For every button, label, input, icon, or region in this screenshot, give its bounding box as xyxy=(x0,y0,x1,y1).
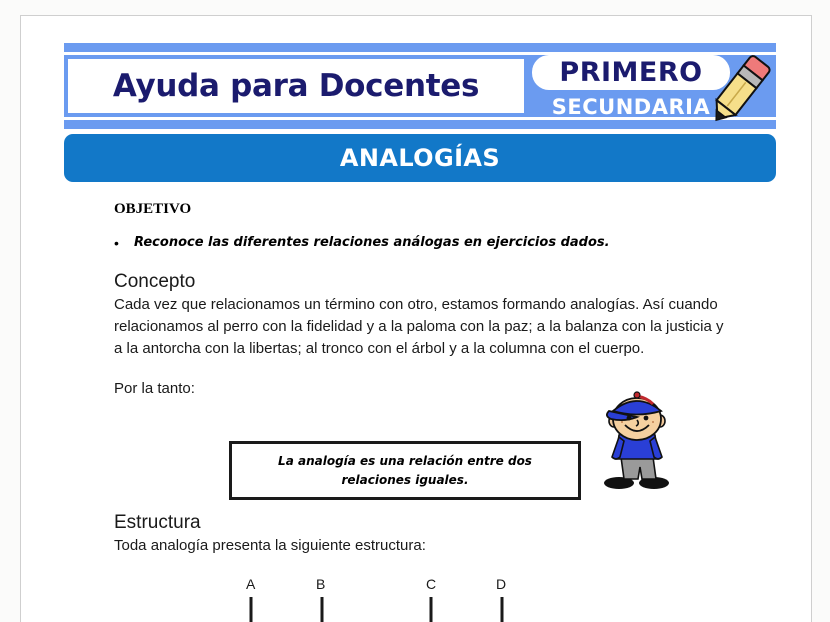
bullet-marker-icon: • xyxy=(114,234,134,252)
bracket-label-d: D xyxy=(496,576,506,592)
objective-bullet-item: • Reconoce las diferentes relaciones aná… xyxy=(114,234,754,252)
structure-zone: Estructura Toda analogía presenta la sig… xyxy=(114,511,754,557)
definition-text: La analogía es una relación entre dos re… xyxy=(232,452,578,490)
page-title: ANALOGÍAS xyxy=(64,134,776,182)
objective-bullet-text: Reconoce las diferentes relaciones análo… xyxy=(134,234,610,252)
bracket-ab-icon xyxy=(244,595,334,622)
grade-level-label: SECUNDARIA xyxy=(532,93,730,121)
bracket-label-a: A xyxy=(246,576,255,592)
bracket-cd-icon xyxy=(424,595,514,622)
concept-heading: Concepto xyxy=(114,270,754,294)
analogy-structure-diagram: A B C D xyxy=(114,576,754,622)
structure-heading: Estructura xyxy=(114,511,754,535)
grade-primary-label: PRIMERO xyxy=(532,55,730,90)
boy-character-icon xyxy=(599,391,675,491)
pencil-icon xyxy=(702,47,774,129)
definition-box: La analogía es una relación entre dos re… xyxy=(229,441,581,500)
definition-zone: La analogía es una relación entre dos re… xyxy=(114,426,754,521)
bracket-label-c: C xyxy=(426,576,436,592)
concept-paragraph: Cada vez que relacionamos un término con… xyxy=(114,294,734,360)
structure-paragraph: Toda analogía presenta la siguiente estr… xyxy=(114,535,754,557)
content-body: OBJETIVO • Reconoce las diferentes relac… xyxy=(114,201,754,400)
brand-title: Ayuda para Docentes xyxy=(68,59,524,113)
document-page: Ayuda para Docentes PRIMERO SECUNDARIA A… xyxy=(20,15,812,622)
objective-heading: OBJETIVO xyxy=(114,201,754,218)
brand-banner: Ayuda para Docentes PRIMERO SECUNDARIA xyxy=(64,43,776,129)
bracket-label-b: B xyxy=(316,576,325,592)
spacer xyxy=(114,360,754,378)
